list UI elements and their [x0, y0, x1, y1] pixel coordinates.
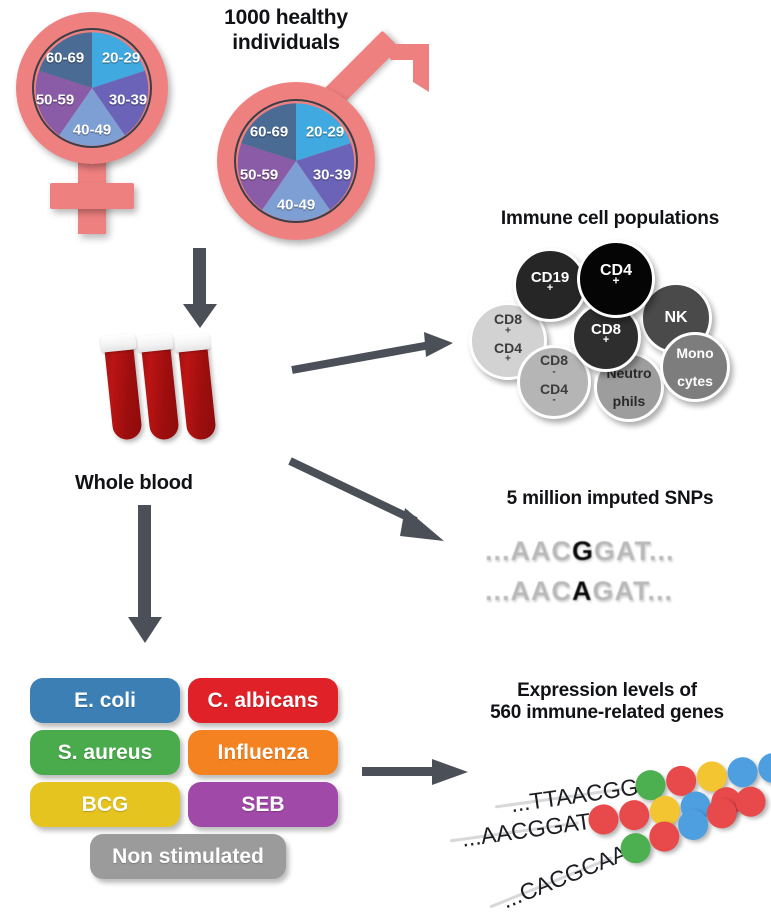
stimulus-e-coli-label: E. coli	[74, 689, 136, 713]
stimulus-seb-label: SEB	[241, 793, 284, 817]
cohort-heading-line1: 1000 healthy	[166, 6, 406, 31]
blood-tube-2-body	[141, 343, 180, 441]
arrow-cohort-to-blood	[180, 248, 220, 330]
arrow-blood-to-stimuli	[125, 505, 165, 645]
stimulus-c-albicans-label: C. albicans	[208, 689, 319, 713]
stimulus-bcg-label: BCG	[82, 793, 129, 817]
blood-tubes	[95, 330, 225, 455]
cd8pos-cd4pos-sup1: +	[505, 325, 511, 336]
immune-cell-cd19pos: CD19+	[513, 248, 587, 322]
snp-row2-suffix: GAT...	[593, 576, 674, 606]
female-age-pie	[32, 28, 152, 148]
immune-heading: Immune cell populations	[455, 208, 765, 230]
nk-label: NK	[664, 310, 687, 326]
male-symbol-arrowhead	[355, 40, 435, 120]
blood-tube-1-body	[104, 343, 143, 441]
stimulus-s-aureus-label: S. aureus	[58, 741, 153, 765]
expression-heading: Expression levels of 560 immune-related …	[448, 680, 766, 725]
snp-sequence-row-2: ...AACAGAT...	[485, 576, 673, 607]
snp-heading: 5 million imputed SNPs	[455, 488, 765, 510]
expression-heading-line2: 560 immune-related genes	[448, 702, 766, 724]
stimulus-s-aureus[interactable]: S. aureus	[30, 730, 180, 775]
male-age-pie	[234, 99, 358, 223]
blood-tube-2	[140, 333, 180, 440]
snp-sequence-row-1: ...AACGGAT...	[485, 536, 675, 567]
cd4pos-sup: +	[613, 276, 620, 288]
cd19pos-sup: +	[547, 282, 553, 294]
snp-sequences: ...AACGGAT... ...AACAGAT...	[455, 532, 765, 622]
expression-heading-line1: Expression levels of	[448, 680, 766, 702]
immune-cell-cd4pos: CD4+	[577, 240, 655, 318]
snp-row1-suffix: GAT...	[594, 536, 675, 566]
stimulus-e-coli[interactable]: E. coli	[30, 678, 180, 723]
cd8pos-cd4pos-sup2: +	[505, 354, 511, 365]
cd8neg-cd4neg-sup2: -	[552, 395, 555, 406]
female-symbol-crossbar	[50, 183, 134, 209]
female-age-pie-svg	[34, 30, 150, 146]
stimulus-non-stimulated[interactable]: Non stimulated	[90, 834, 286, 879]
blood-tube-3	[177, 333, 217, 440]
immune-cell-cluster: CD8+ CD4+ CD19+ CD4+ NK CD8+	[455, 240, 755, 420]
female-symbol: 20-29 30-39 40-49 50-59 60-69	[8, 8, 188, 238]
stimulus-c-albicans[interactable]: C. albicans	[188, 678, 338, 723]
stimulus-influenza-label: Influenza	[217, 741, 308, 765]
arrow-blood-to-immune	[290, 330, 455, 375]
study-design-diagram: 20-29 30-39 40-49 50-59 60-69 1000 healt…	[0, 0, 771, 922]
cd8pos-sup: +	[603, 334, 609, 346]
blood-tube-3-body	[178, 343, 217, 441]
monocytes-line1: Mono	[676, 346, 713, 360]
stimulus-seb[interactable]: SEB	[188, 782, 338, 827]
snp-row1-variant: G	[572, 536, 594, 566]
neutrophils-line2: phils	[606, 394, 651, 408]
monocytes-line2: cytes	[676, 374, 713, 388]
expression-strands: ...TTAACGG ...AACGGAT ...CACGCAA	[440, 748, 771, 918]
stimulus-bcg[interactable]: BCG	[30, 782, 180, 827]
blood-tube-1	[103, 333, 143, 440]
whole-blood-label: Whole blood	[75, 472, 245, 496]
dna-strand-1-bead-5	[756, 751, 771, 785]
dna-strand-3-text: ...CACGCAA	[498, 839, 631, 914]
stimulus-non-stimulated-label: Non stimulated	[112, 845, 264, 869]
snp-row2-prefix: ...AAC	[485, 576, 572, 606]
stimulus-influenza[interactable]: Influenza	[188, 730, 338, 775]
arrow-blood-to-snps	[288, 455, 448, 545]
cd8neg-cd4neg-sup1: -	[552, 366, 555, 377]
stimuli-panel: E. coli C. albicans S. aureus Influenza …	[30, 678, 350, 893]
snp-row1-prefix: ...AAC	[485, 536, 572, 566]
male-symbol: 20-29 30-39 40-49 50-59 60-69	[205, 40, 415, 245]
male-age-pie-svg	[236, 101, 356, 221]
snp-row2-variant: A	[572, 576, 593, 606]
dna-strand-2-text: ...AACGGAT	[460, 808, 592, 853]
immune-cell-monocytes: Mono cytes	[660, 332, 730, 402]
